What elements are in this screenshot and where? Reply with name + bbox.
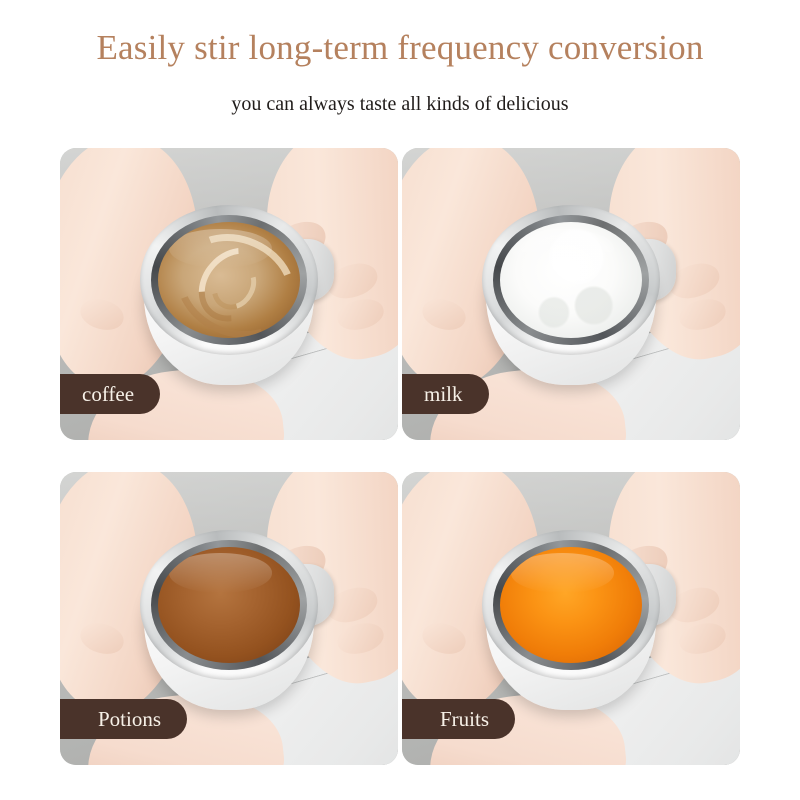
gallery-panel-coffee[interactable]: coffee	[60, 148, 398, 440]
gallery-panel-fruits[interactable]: Fruits	[402, 472, 740, 765]
self-stirring-mug	[482, 530, 660, 708]
panel-label-fruits: Fruits	[402, 699, 515, 739]
panel-label-coffee: coffee	[60, 374, 160, 414]
self-stirring-mug	[140, 530, 318, 708]
liquid-highlight	[511, 229, 613, 268]
liquid-milk	[500, 222, 642, 338]
liquid-juice	[500, 547, 642, 663]
page-title: Easily stir long-term frequency conversi…	[0, 26, 800, 70]
page-subtitle: you can always taste all kinds of delici…	[0, 91, 800, 117]
gallery-panel-milk[interactable]: milk	[402, 148, 740, 440]
page-header: Easily stir long-term frequency conversi…	[0, 0, 800, 117]
beverage-gallery-grid: coffee	[60, 148, 740, 765]
liquid-tea	[158, 547, 300, 663]
liquid-highlight	[169, 553, 271, 592]
gallery-panel-potions[interactable]: Potions	[60, 472, 398, 765]
panel-label-milk: milk	[402, 374, 489, 414]
self-stirring-mug	[482, 205, 660, 383]
liquid-coffee	[158, 222, 300, 338]
panel-label-potions: Potions	[60, 699, 187, 739]
liquid-highlight	[511, 553, 613, 592]
self-stirring-mug	[140, 205, 318, 383]
liquid-highlight	[169, 229, 271, 268]
